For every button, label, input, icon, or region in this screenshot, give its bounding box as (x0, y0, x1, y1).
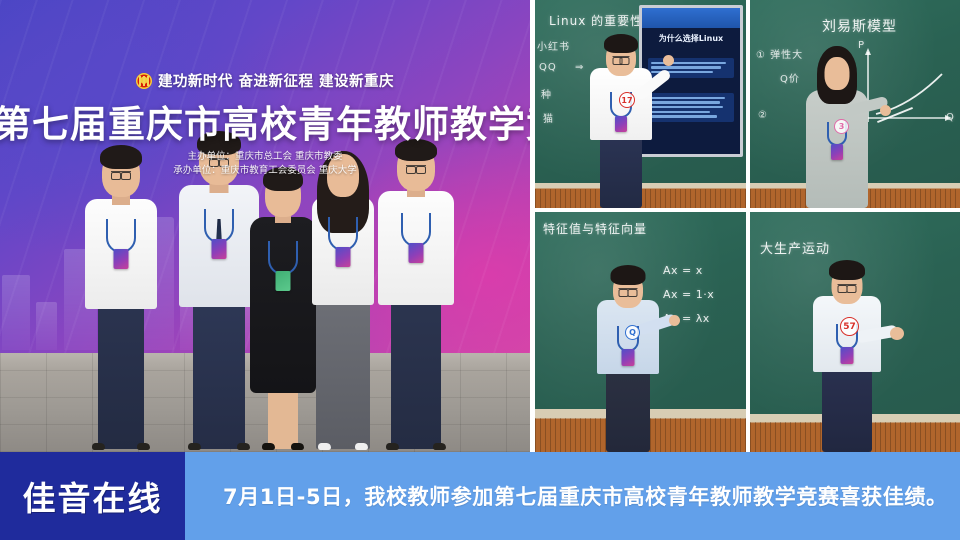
banner-organizers: 主办单位：重庆市总工会 重庆市教委 承办单位：重庆市教育工会委员会 重庆大学 (0, 150, 530, 178)
board-note-1: 小红书 (537, 38, 570, 53)
contestant-badge (212, 239, 227, 259)
board-note-3: 种 (541, 86, 552, 101)
contestant-badge (409, 243, 424, 263)
board-title-eigen: 特征值与特征向量 (543, 220, 647, 237)
teacher-figure: 3 (794, 22, 880, 208)
lanyard (106, 219, 136, 253)
graph-x-label: Q (946, 112, 955, 123)
screenshot-root: 建功新时代 奋进新征程 建设新重庆 第七届重庆市高校青年教师教学竞赛 主办单位：… (0, 0, 960, 540)
lanyard (328, 217, 358, 251)
caption-headline: 7月1日-5日，我校教师参加第七届重庆市高校青年教师教学竞赛喜获佳绩。 (223, 481, 948, 511)
contestant-badge (841, 347, 854, 364)
group-person-1 (78, 149, 164, 449)
banner-main-title: 第七届重庆市高校青年教师教学竞赛 (0, 94, 530, 148)
banner-organizer-line-1: 主办单位：重庆市总工会 重庆市教委 (0, 150, 530, 164)
group-photo: 建功新时代 奋进新征程 建设新重庆 第七届重庆市高校青年教师教学竞赛 主办单位：… (0, 0, 530, 452)
classroom-photo-production: 大生产运动 57 (750, 212, 960, 452)
union-emblem-icon (136, 73, 152, 89)
banner-slogan-text: 建功新时代 奋进新征程 建设新重庆 (158, 74, 394, 90)
slide-header-bar (642, 8, 740, 28)
teacher-figure: 17 (579, 28, 663, 208)
caption-block: 7月1日-5日，我校教师参加第七届重庆市高校青年教师教学竞赛喜获佳绩。 (185, 452, 960, 540)
board-note-3: ② (758, 110, 768, 121)
teacher-figure: 57 (798, 244, 896, 452)
contestant-number-badge: Q (625, 325, 640, 340)
classroom-photo-linux: Linux 的重要性 小红书 QQ 种 猫 ⇒ 为什么选择Linux (535, 0, 746, 208)
contestant-badge (276, 271, 291, 291)
contestant-number-badge: 3 (834, 119, 849, 134)
brand-block: 佳音在线 (0, 452, 185, 540)
caption-bar: 佳音在线 7月1日-5日，我校教师参加第七届重庆市高校青年教师教学竞赛喜获佳绩。 (0, 452, 960, 540)
contestant-number-badge: 57 (840, 317, 859, 336)
banner-organizer-line-2: 承办单位：重庆市教育工会委员会 重庆大学 (0, 164, 530, 178)
classroom-photo-lewis-model: 刘易斯模型 ① 弹性大 Q价 ② P Q (750, 0, 960, 208)
contestant-badge (622, 349, 635, 366)
classroom-photo-eigenvalues: 特征值与特征向量 Ax = x Ax = 1·x Ax = λx Q (535, 212, 746, 452)
lanyard (401, 213, 431, 247)
contestant-badge (615, 116, 627, 132)
teacher-figure: Q (585, 250, 671, 452)
banner-slogan-line: 建功新时代 奋进新征程 建设新重庆 (0, 70, 530, 91)
contestant-badge (831, 144, 843, 160)
brand-title: 佳音在线 (23, 472, 163, 520)
lanyard (268, 241, 298, 275)
board-title-linux: Linux 的重要性 (549, 12, 643, 29)
contestant-number-badge: 17 (619, 92, 635, 108)
contestant-badge (114, 249, 129, 269)
lanyard (204, 209, 234, 243)
photo-collage: 建功新时代 奋进新征程 建设新重庆 第七届重庆市高校青年教师教学竞赛 主办单位：… (0, 0, 960, 452)
board-note-4: 猫 (543, 110, 554, 125)
contestant-badge (336, 247, 351, 267)
group-person-5 (372, 143, 460, 449)
board-note-2: QQ (539, 62, 557, 73)
